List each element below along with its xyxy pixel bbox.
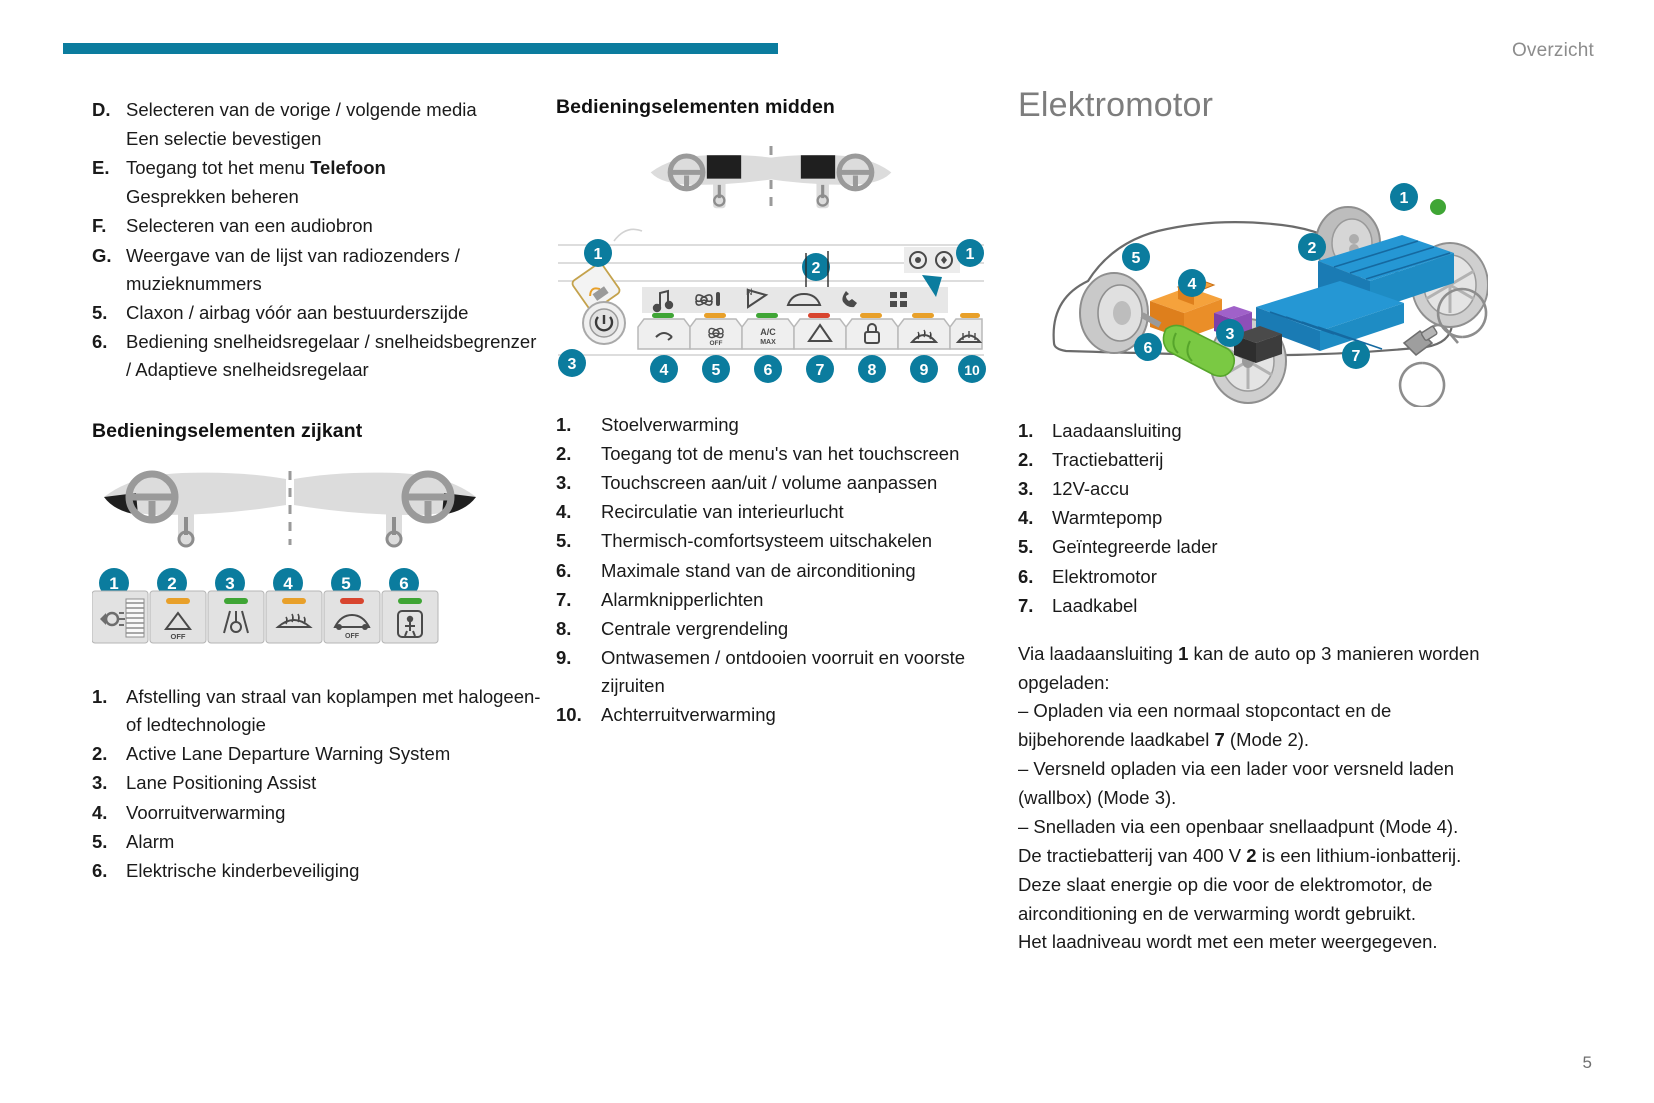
svg-text:5: 5 [341,574,350,593]
list-item-sublabel: Gesprekken beheren [126,183,299,211]
list-item-key: 1. [92,683,126,739]
list-item: E. Toegang tot het menu Telefoon [92,154,542,182]
list-item-label: Warmtepomp [1052,504,1488,532]
list-item-label: Stoelverwarming [601,411,976,439]
list-item-label: Ontwasemen / ontdooien voorruit en voors… [601,644,976,700]
list-item-label: Afstelling van straal van koplampen met … [126,683,542,739]
list-item-sub: Een selectie bevestigen [92,125,542,153]
list-item-label: Voorruitverwarming [126,799,542,827]
battery-spec-b: is een lithium-ionbatterij. [1257,845,1462,866]
list-item: 1. Afstelling van straal van koplampen m… [92,683,542,739]
list-item: 6. Elektrische kinderbeveiliging [92,857,542,885]
svg-text:1: 1 [1400,190,1409,207]
button-hazard-lights[interactable] [794,313,846,349]
list-item-key: 3. [92,769,126,797]
list-item-label: Touchscreen aan/uit / volume aanpassen [601,469,976,497]
list-item-sub: Gesprekken beheren [92,183,542,211]
svg-text:4: 4 [1188,276,1197,293]
list-item-sublabel: Een selectie bevestigen [126,125,321,153]
list-item: 4. Warmtepomp [1018,504,1488,532]
svg-text:10: 10 [964,362,980,378]
list-item: 5. Thermisch-comfortsysteem uitschakelen [556,527,976,555]
charging-bullet-3: – Snelladen via een openbaar snellaadpun… [1018,813,1488,842]
switch-alarm[interactable]: OFF [324,591,380,643]
list-item-key: 3. [1018,475,1052,503]
list-item-key: E. [92,154,126,182]
list-item: 7. Alarmknipperlichten [556,586,976,614]
svg-text:2: 2 [812,260,821,277]
list-item-key: 4. [92,799,126,827]
button-ac-max[interactable]: A/C MAX [742,313,794,349]
list-item-label: Toegang tot het menu [126,157,310,178]
list-item-key: 1. [556,411,601,439]
list-item-key: 3. [556,469,601,497]
list-item: F. Selecteren van een audiobron [92,212,542,240]
list-item-key: 5. [1018,533,1052,561]
intro-text-a: Via laadaansluiting [1018,643,1178,664]
list-item-label: Weergave van de lijst van radiozenders /… [126,242,542,298]
svg-text:2: 2 [1308,240,1317,257]
svg-text:4: 4 [283,574,293,593]
bullet-1-text-b: (Mode 2). [1225,729,1309,750]
list-item: 5. Geïntegreerde lader [1018,533,1488,561]
powertrain-figure: 1 2 3 4 5 6 7 [1018,147,1488,407]
svg-text:OFF: OFF [345,633,360,640]
list-item-key: 5. [92,299,126,327]
dashboard-rhd-icon [760,155,891,208]
side-controls-legend: 1. Afstelling van straal van koplampen m… [92,683,542,885]
battery-spec-a: De tractiebatterij van 400 V [1018,845,1246,866]
list-item: 6. Bediening snelheidsregelaar / snelhei… [92,328,542,384]
svg-text:6: 6 [764,362,773,379]
list-item: 10. Achterruitverwarming [556,701,976,729]
list-item-key: 5. [556,527,601,555]
svg-text:3: 3 [225,574,234,593]
centre-controls-legend: 1. Stoelverwarming 2. Toegang tot de men… [556,411,976,729]
svg-text:OFF: OFF [710,340,723,347]
list-item: 7. Laadkabel [1018,592,1488,620]
power-volume-knob[interactable] [583,302,625,344]
energy-usage-line: Deze slaat energie op die voor de elektr… [1018,871,1488,929]
list-item: 6. Elektromotor [1018,563,1488,591]
list-item-key: 5. [92,828,126,856]
centre-console-figure: N [556,141,976,391]
svg-text:2: 2 [167,574,176,593]
list-item: 2. Active Lane Departure Warning System [92,740,542,768]
svg-text:MAX: MAX [760,339,776,346]
list-item-label: Laadkabel [1052,592,1488,620]
list-item: G. Weergave van de lijst van radiozender… [92,242,542,298]
list-item: 6. Maximale stand van de airconditioning [556,557,976,585]
right-column: Elektromotor [1018,86,1488,957]
middle-column: Bedieningselementen midden [556,96,976,730]
section-title-side-controls: Bedieningselementen zijkant [92,420,542,443]
section-title-centre-controls: Bedieningselementen midden [556,96,976,119]
header-accent-bar [63,43,778,54]
svg-text:8: 8 [868,362,877,379]
list-item: 9. Ontwasemen / ontdooien voorruit en vo… [556,644,976,700]
list-item: 4. Voorruitverwarming [92,799,542,827]
touchscreen-menu-bar[interactable]: N [642,287,948,313]
svg-text:6: 6 [1144,340,1153,357]
svg-text:4: 4 [660,362,669,379]
svg-text:3: 3 [568,356,577,373]
svg-text:OFF: OFF [171,632,186,641]
list-item-key: G. [92,242,126,298]
svg-text:3: 3 [1226,326,1235,343]
dashboard-lhd-icon [104,473,286,546]
list-item: 2. Tractiebatterij [1018,446,1488,474]
list-item-label: Toegang tot de menu's van het touchscree… [601,440,976,468]
list-item-label: Alarm [126,828,542,856]
svg-text:5: 5 [712,362,721,379]
list-item-key: 2. [556,440,601,468]
list-item-label: Alarmknipperlichten [601,586,976,614]
svg-text:7: 7 [1352,348,1361,365]
button-recirculation[interactable] [638,313,690,349]
svg-text:A/C: A/C [760,327,776,337]
svg-text:9: 9 [920,362,929,379]
list-item-key: 8. [556,615,601,643]
list-item-key: 6. [1018,563,1052,591]
svg-text:1: 1 [594,246,603,263]
charge-connector-icon [1404,326,1438,355]
svg-text:N: N [746,287,753,297]
svg-text:7: 7 [816,362,825,379]
bullet-1-ref: 7 [1214,729,1224,750]
bullet-1-text-a: – Opladen via een normaal stopcontact en… [1018,700,1391,750]
hvac-button-row: OFF A/C MAX [638,313,982,349]
page-title: Elektromotor [1018,86,1488,125]
powertrain-legend: 1. Laadaansluiting 2. Tractiebatterij 3.… [1018,417,1488,620]
screen-settings-icons[interactable] [904,247,960,273]
dashboard-rhd-icon [294,473,476,546]
charging-description: Via laadaansluiting 1 kan de auto op 3 m… [1018,640,1488,957]
list-item-label: Achterruitverwarming [601,701,976,729]
charge-socket-part [1430,199,1446,215]
switch-child-lock[interactable] [382,591,438,643]
list-item-key: 6. [92,328,126,384]
list-item-key: 1. [1018,417,1052,445]
list-item-label: Selecteren van de vorige / volgende medi… [126,96,542,124]
svg-text:5: 5 [1132,250,1141,267]
list-item-key: 10. [556,701,601,729]
list-item-label: Tractiebatterij [1052,446,1488,474]
list-item-key: F. [92,212,126,240]
switch-windscreen-heating[interactable] [266,591,322,643]
list-item-key: 6. [92,857,126,885]
button-rear-window-heating[interactable] [950,313,982,349]
svg-text:6: 6 [399,574,408,593]
charging-bullet-1: – Opladen via een normaal stopcontact en… [1018,697,1488,755]
list-item-emphasis: Telefoon [310,157,386,178]
list-item-key: 6. [556,557,601,585]
list-item: 3. Lane Positioning Assist [92,769,542,797]
list-item: 3. Touchscreen aan/uit / volume aanpasse… [556,469,976,497]
electric-powertrain-diagram: 1 2 3 4 5 6 7 [1018,147,1488,407]
list-item-key: 9. [556,644,601,700]
battery-spec-ref: 2 [1246,845,1256,866]
charging-bullet-2: – Versneld opladen via een lader voor ve… [1018,755,1488,813]
battery-spec-line: De tractiebatterij van 400 V 2 is een li… [1018,842,1488,871]
lettered-controls-list: D. Selecteren van de vorige / volgende m… [92,96,542,384]
intro-ref-1: 1 [1178,643,1188,664]
list-item-key: D. [92,96,126,124]
list-item-label: Geïntegreerde lader [1052,533,1488,561]
list-item-key: 4. [1018,504,1052,532]
side-controls-figure: 1 2 3 4 5 6 [92,461,542,661]
list-item-key: 2. [92,740,126,768]
switch-lane-departure-warning[interactable]: OFF [150,591,206,643]
list-item-key: 7. [1018,592,1052,620]
list-item-label: Claxon / airbag vóór aan bestuurderszijd… [126,299,542,327]
list-item-label: Active Lane Departure Warning System [126,740,542,768]
switch-lane-positioning-assist[interactable] [208,591,264,643]
button-climate-off[interactable]: OFF [690,313,742,349]
button-windscreen-demist[interactable] [898,313,950,349]
list-item-key: 7. [556,586,601,614]
list-item-label: Elektromotor [1052,563,1488,591]
centre-console-diagram: N [556,141,986,391]
list-item-label: Thermisch-comfortsysteem uitschakelen [601,527,976,555]
list-item-key: 4. [556,498,601,526]
svg-text:1: 1 [109,574,118,593]
list-item: 5. Alarm [92,828,542,856]
list-item-label: 12V-accu [1052,475,1488,503]
list-item-label: Selecteren van een audiobron [126,212,542,240]
left-column: D. Selecteren van de vorige / volgende m… [92,96,542,886]
button-central-locking[interactable] [846,313,898,349]
list-item: 3. 12V-accu [1018,475,1488,503]
list-item: D. Selecteren van de vorige / volgende m… [92,96,542,124]
charge-level-line: Het laadniveau wordt met een meter weerg… [1018,928,1488,957]
list-item: 1. Stoelverwarming [556,411,976,439]
list-item: 8. Centrale vergrendeling [556,615,976,643]
list-item-label: Elektrische kinderbeveiliging [126,857,542,885]
switch-headlamp-adjust[interactable] [92,591,148,643]
side-controls-diagram: 1 2 3 4 5 6 [92,461,512,661]
page-number: 5 [1583,1053,1592,1073]
list-item-label: Lane Positioning Assist [126,769,542,797]
paragraph-intro: Via laadaansluiting 1 kan de auto op 3 m… [1018,640,1488,698]
list-item-label: Bediening snelheidsregelaar / snelheidsb… [126,328,542,384]
list-item-key: 2. [1018,446,1052,474]
list-item-label: Maximale stand van de airconditioning [601,557,976,585]
running-head: Overzicht [1512,40,1594,62]
list-item: 1. Laadaansluiting [1018,417,1488,445]
list-item-label: Laadaansluiting [1052,417,1488,445]
list-item: 4. Recirculatie van interieurlucht [556,498,976,526]
list-item-label: Recirculatie van interieurlucht [601,498,976,526]
list-item-label: Centrale vergrendeling [601,615,976,643]
list-item: 2. Toegang tot de menu's van het touchsc… [556,440,976,468]
list-item: 5. Claxon / airbag vóór aan bestuurdersz… [92,299,542,327]
svg-text:1: 1 [966,246,975,263]
